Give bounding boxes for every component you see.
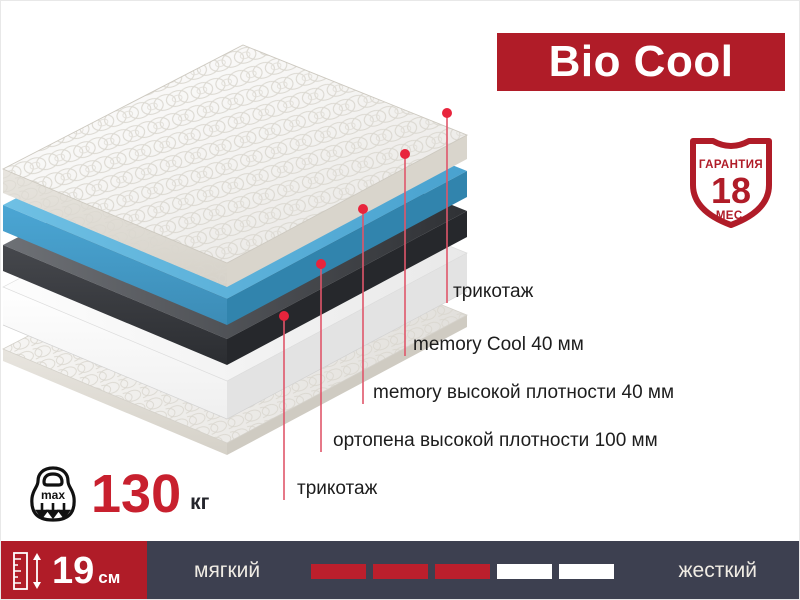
firmness-soft-label: мягкий [194,559,260,583]
max-weight-unit: кг [190,491,209,515]
firmness-scale [311,564,614,579]
firmness-segment-3 [435,564,490,579]
layer-label-memory-cool: memory Cool 40 мм [413,335,584,354]
height-value: 19 [52,552,94,590]
brand-title: Bio Cool [549,40,734,84]
firmness-segment-1 [311,564,366,579]
firmness-firm-label: жесткий [679,559,758,583]
brand-banner: Bio Cool [497,33,785,91]
warranty-shield-badge: ГАРАНТИЯ 18 МЕС. [685,131,777,229]
layer-label-knit-bottom: трикотаж [297,479,377,498]
layer-label-ortopena: ортопена высокой плотности 100 мм [333,431,658,450]
max-weight-block: max 130 кг [27,461,209,527]
bottom-spec-bar: 19 см мягкий жесткий [1,541,800,600]
firmness-segment-2 [373,564,428,579]
svg-text:МЕС.: МЕС. [716,210,746,222]
product-info-card: трикотаж memory Cool 40 мм memory высоко… [0,0,800,600]
ruler-height-icon [12,550,46,592]
height-panel: 19 см [1,541,147,600]
svg-text:18: 18 [711,170,751,211]
kettlebell-max-icon: max [27,465,79,523]
firmness-segment-5 [559,564,614,579]
svg-text:max: max [41,488,65,502]
height-unit: см [98,568,120,588]
firmness-panel: мягкий жесткий [147,541,800,600]
layer-label-memory-dense: memory высокой плотности 40 мм [373,383,674,402]
firmness-segment-4 [497,564,552,579]
max-weight-value: 130 [91,467,181,521]
layer-label-knit-top: трикотаж [453,282,533,301]
